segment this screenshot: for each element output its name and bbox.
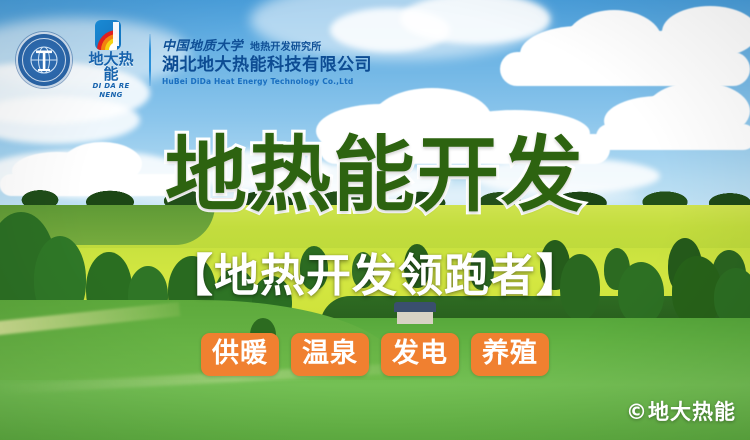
- company-name-en: HuBei DiDa Heat Energy Technology Co.,Lt…: [162, 77, 372, 86]
- service-tag-list: 供暖 温泉 发电 养殖: [0, 333, 750, 376]
- university-name: 中国地质大学: [162, 35, 243, 54]
- logo-pinyin: DI DA RE NENG: [82, 82, 140, 100]
- institute-name: 地热开发研究所: [250, 38, 321, 53]
- copyright-watermark: ©地大热能: [626, 396, 736, 426]
- cloud: [662, 6, 750, 58]
- logo-chinese-name: 地大热能: [82, 52, 140, 82]
- organization-block: 中国地质大学 地热开发研究所 湖北地大热能科技有限公司 HuBei DiDa H…: [162, 35, 372, 86]
- subtitle: 【地热开发领跑者】: [0, 250, 750, 302]
- geothermal-promo-banner: 地大热能 DI DA RE NENG 中国地质大学 地热开发研究所 湖北地大热能…: [0, 0, 750, 440]
- farmhouse: [394, 302, 436, 324]
- dida-rainbow-logo-icon: 地大热能 DI DA RE NENG: [82, 20, 140, 100]
- service-tag-aquaculture[interactable]: 养殖: [471, 333, 549, 376]
- company-name-cn: 湖北地大热能科技有限公司: [162, 55, 372, 76]
- brand-divider: [149, 34, 151, 86]
- main-title: 地热能开发: [0, 133, 750, 219]
- service-tag-heating[interactable]: 供暖: [201, 333, 279, 376]
- service-tag-hotspring[interactable]: 温泉: [291, 333, 369, 376]
- university-seal-icon: [16, 32, 72, 88]
- brand-header: 地大热能 DI DA RE NENG 中国地质大学 地热开发研究所 湖北地大热能…: [16, 28, 372, 92]
- service-tag-powergen[interactable]: 发电: [381, 333, 459, 376]
